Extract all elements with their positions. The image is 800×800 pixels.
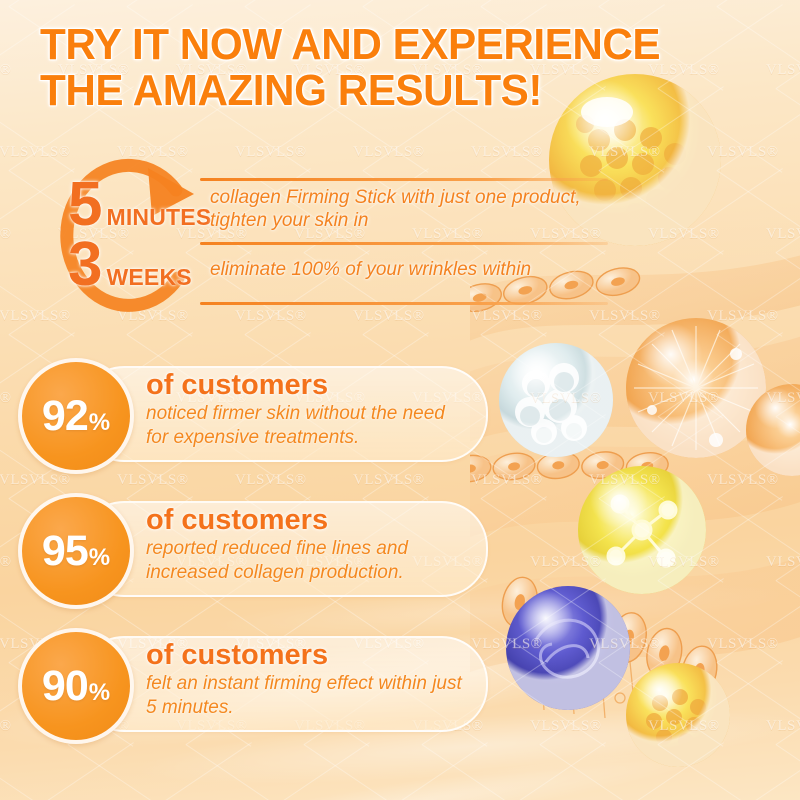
skin-science-artwork xyxy=(470,0,800,800)
watermark-diagonal xyxy=(540,496,665,581)
watermark-diagonal xyxy=(776,332,800,417)
watermark-diagonal xyxy=(775,580,800,665)
watermark-diagonal xyxy=(598,498,723,583)
stat-body: felt an instant firming effect within ju… xyxy=(146,672,462,719)
watermark-diagonal xyxy=(717,250,800,335)
watermark-text: VLSVLS® xyxy=(766,554,800,571)
watermark-diagonal xyxy=(539,416,664,501)
collagen-fibers xyxy=(540,650,697,734)
watermark-diagonal xyxy=(716,498,800,583)
watermark-text: VLSVLS® xyxy=(648,390,720,407)
timing-number: 5 xyxy=(68,180,102,231)
watermark-text: VLSVLS® xyxy=(235,472,307,489)
watermark-diagonal xyxy=(481,0,606,7)
divider-line xyxy=(200,178,608,181)
watermark-diagonal xyxy=(776,496,800,581)
watermark-text: VLSVLS® xyxy=(530,390,602,407)
stat-heading: of customers xyxy=(146,370,462,400)
watermark-text: VLSVLS® xyxy=(707,472,779,489)
stat-percentage-badge: 92 % xyxy=(18,358,134,474)
circular-arrow-icon xyxy=(28,150,228,320)
watermark-diagonal xyxy=(127,742,252,800)
watermark-text: VLSVLS® xyxy=(589,636,661,653)
infographic-poster: VLSVLS®VLSVLS®VLSVLS®VLSVLS®VLSVLS®VLSVL… xyxy=(0,0,800,800)
watermark-diagonal xyxy=(717,578,800,663)
stat-value: 95 xyxy=(42,530,88,573)
percent-symbol: % xyxy=(89,546,110,570)
watermark-diagonal xyxy=(540,660,665,745)
watermark-diagonal xyxy=(775,88,800,173)
watermark-diagonal xyxy=(598,662,723,747)
watermark-text: VLSVLS® xyxy=(353,472,425,489)
watermark-diagonal xyxy=(481,578,606,663)
serum-burst-orb xyxy=(626,318,766,458)
watermark-diagonal xyxy=(775,416,800,501)
watermark-diagonal xyxy=(67,744,192,800)
watermark-diagonal xyxy=(775,252,800,337)
watermark-diagonal xyxy=(776,660,800,745)
blue-swirl-orb xyxy=(506,586,630,710)
watermark-text: VLSVLS® xyxy=(707,308,779,325)
watermark-text: VLSVLS® xyxy=(0,554,12,571)
timing-block: 5 MINUTES 3 WEEKS collagen Firming Stick… xyxy=(28,150,648,320)
watermark-diagonal xyxy=(599,0,724,7)
watermark-diagonal xyxy=(599,414,724,499)
watermark-diagonal xyxy=(776,168,800,253)
watermark-text: VLSVLS® xyxy=(530,718,602,735)
watermark-diagonal xyxy=(657,580,782,665)
percent-symbol: % xyxy=(89,411,110,435)
watermark-text: VLSVLS® xyxy=(766,62,800,79)
watermark-text: VLSVLS® xyxy=(117,472,189,489)
watermark-diagonal xyxy=(658,660,783,745)
watermark-text: VLSVLS® xyxy=(0,718,12,735)
watermark-diagonal xyxy=(539,744,664,800)
watermark-text: VLSVLS® xyxy=(589,472,661,489)
watermark-diagonal xyxy=(599,742,724,800)
watermark-diagonal xyxy=(717,742,800,800)
divider-line xyxy=(200,242,608,245)
percent-symbol: % xyxy=(89,681,110,705)
watermark-text: VLSVLS® xyxy=(0,472,71,489)
timing-unit: MINUTES xyxy=(106,204,211,231)
watermark-diagonal xyxy=(717,0,800,7)
stat-heading: of customers xyxy=(146,640,462,670)
watermark-diagonal xyxy=(657,416,782,501)
watermark-text: VLSVLS® xyxy=(648,718,720,735)
stat-row: 92 % of customers noticed firmer skin wi… xyxy=(18,358,488,466)
watermark-text: VLSVLS® xyxy=(766,718,800,735)
watermark-diagonal xyxy=(480,498,605,583)
watermark-diagonal xyxy=(540,332,665,417)
timing-unit: WEEKS xyxy=(106,264,191,291)
watermark-text: VLSVLS® xyxy=(648,226,720,243)
watermark-diagonal xyxy=(716,334,800,419)
watermark-diagonal xyxy=(9,0,134,7)
bubble-cluster-orb xyxy=(499,343,613,457)
headline-line-2: THE AMAZING RESULTS! xyxy=(40,68,731,114)
timing-description: eliminate 100% of your wrinkles within xyxy=(210,258,630,281)
watermark-diagonal xyxy=(716,170,800,255)
page-title: TRY IT NOW AND EXPERIENCE THE AMAZING RE… xyxy=(40,22,731,114)
watermark-diagonal xyxy=(480,662,605,747)
watermark-diagonal xyxy=(9,742,134,800)
stat-row: 95 % of customers reported reduced fine … xyxy=(18,493,488,601)
watermark-diagonal xyxy=(127,0,252,7)
watermark-diagonal xyxy=(776,4,800,89)
watermark-diagonal xyxy=(245,0,370,7)
watermark-diagonal xyxy=(481,742,606,800)
watermark-diagonal xyxy=(657,744,782,800)
watermark-diagonal xyxy=(658,332,783,417)
watermark-text: VLSVLS® xyxy=(766,390,800,407)
watermark-diagonal xyxy=(303,744,428,800)
watermark-diagonal xyxy=(716,662,800,747)
serum-burst-orb xyxy=(746,384,800,476)
stat-percentage-badge: 90 % xyxy=(18,628,134,744)
watermark-text: VLSVLS® xyxy=(766,226,800,243)
watermark-text: VLSVLS® xyxy=(648,554,720,571)
watermark-text: VLSVLS® xyxy=(707,636,779,653)
timing-number: 3 xyxy=(68,240,102,291)
watermark-diagonal xyxy=(599,578,724,663)
watermark-text: VLSVLS® xyxy=(707,144,779,161)
watermark-diagonal xyxy=(598,334,723,419)
watermark-diagonal xyxy=(717,414,800,499)
timing-description: collagen Firming Stick with just one pro… xyxy=(210,186,630,232)
watermark-text: VLSVLS® xyxy=(530,554,602,571)
stat-copy: of customers felt an instant firming eff… xyxy=(146,640,462,719)
timing-row: 3 WEEKS xyxy=(68,240,192,291)
stat-body: reported reduced fine lines and increase… xyxy=(146,537,462,584)
stat-row: 90 % of customers felt an instant firmin… xyxy=(18,628,488,736)
watermark-diagonal xyxy=(775,744,800,800)
watermark-diagonal xyxy=(658,496,783,581)
small-honeycomb-orb xyxy=(626,663,730,767)
stat-value: 92 xyxy=(42,395,88,438)
headline-line-1: TRY IT NOW AND EXPERIENCE xyxy=(40,22,731,68)
stat-copy: of customers noticed firmer skin without… xyxy=(146,370,462,449)
watermark-diagonal xyxy=(481,414,606,499)
stat-percentage-badge: 95 % xyxy=(18,493,134,609)
molecule-orb xyxy=(578,466,706,594)
watermark-diagonal xyxy=(185,744,310,800)
watermark-diagonal xyxy=(480,334,605,419)
stat-value: 90 xyxy=(42,665,88,708)
divider-line xyxy=(200,302,608,305)
stat-copy: of customers reported reduced fine lines… xyxy=(146,505,462,584)
watermark-text: VLSVLS® xyxy=(0,226,12,243)
timing-row: 5 MINUTES xyxy=(68,180,211,231)
watermark-diagonal xyxy=(0,744,74,800)
watermark-diagonal xyxy=(539,580,664,665)
watermark-text: VLSVLS® xyxy=(0,390,12,407)
watermark-text: VLSVLS® xyxy=(0,62,12,79)
watermark-diagonal xyxy=(363,0,488,7)
stat-body: noticed firmer skin without the need for… xyxy=(146,402,462,449)
watermark-diagonal xyxy=(421,744,546,800)
watermark-diagonal xyxy=(658,168,783,253)
watermark-text: VLSVLS® xyxy=(471,472,543,489)
watermark-diagonal xyxy=(363,742,488,800)
stat-heading: of customers xyxy=(146,505,462,535)
watermark-diagonal xyxy=(657,252,782,337)
watermark-diagonal xyxy=(245,742,370,800)
